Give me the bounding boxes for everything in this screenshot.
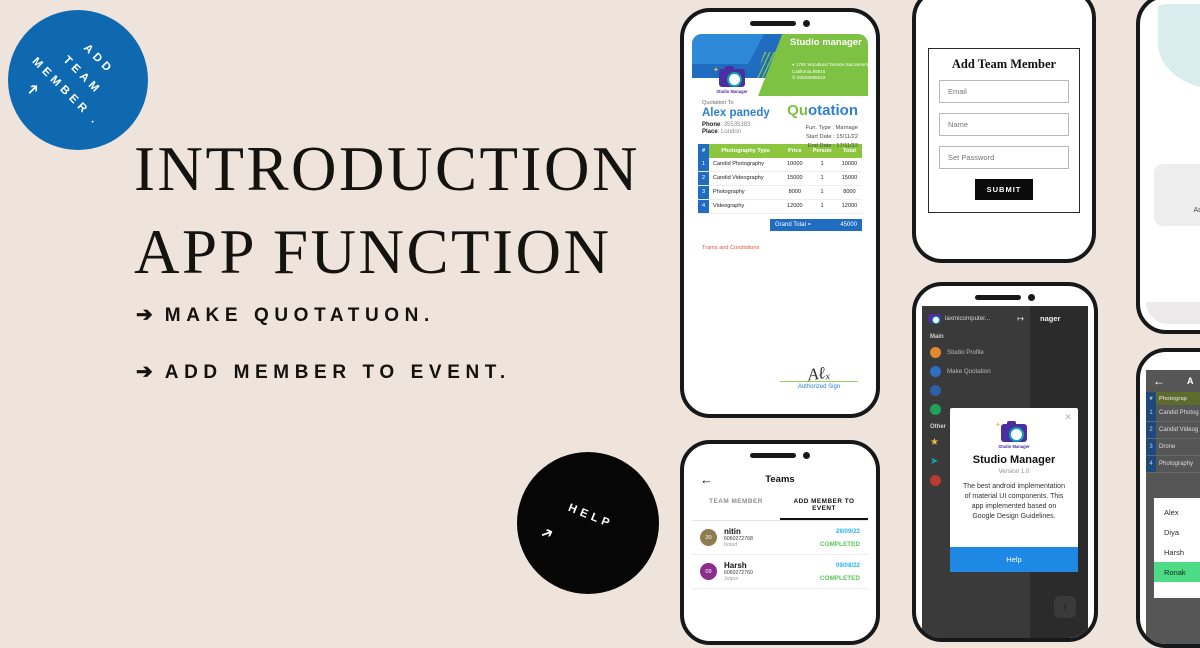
phone-notch xyxy=(750,20,810,27)
dialog-body-text: The best android implementation of mater… xyxy=(950,475,1078,547)
speaker-icon xyxy=(975,295,1021,300)
cell-type: Drone xyxy=(1156,439,1200,456)
cell-index: 2 xyxy=(1146,422,1156,439)
member-name: Harsh xyxy=(724,561,820,570)
member-dropdown-menu: Alex Diya Harsh Ronak xyxy=(1154,498,1200,598)
status-badge: COMPLETED xyxy=(820,541,860,548)
cell-index: 2 xyxy=(698,171,709,185)
add-team-member-card: Add Team Member SUBMIT xyxy=(928,48,1080,213)
speaker-icon xyxy=(750,453,796,458)
drawer-item-label: Studio Profile xyxy=(947,349,984,356)
phone-mockup-add-team-member: Add Team Member SUBMIT xyxy=(912,0,1096,263)
quotation-title-part1: Qu xyxy=(787,102,808,119)
studio-phone: 83535685533 xyxy=(797,75,825,80)
table-row: 3 Drone xyxy=(1146,439,1200,456)
app-logo-icon xyxy=(928,314,941,323)
client-place-label: Place xyxy=(702,129,718,135)
logout-icon[interactable]: ↦ xyxy=(1017,314,1024,323)
appbar-title: nager xyxy=(1040,314,1060,323)
send-icon: ➤ xyxy=(930,456,938,467)
photography-table: # Photograp 1 Candid Photog 2 Candid Vid… xyxy=(1146,392,1200,473)
event-details: Fun. Type : Marriage Start Date : 15/11/… xyxy=(806,124,858,151)
password-field[interactable] xyxy=(939,146,1069,169)
bag-icon xyxy=(930,385,941,396)
cell-type: Candid Videog xyxy=(1156,422,1200,439)
quotation-icon xyxy=(930,366,941,377)
authorized-signature: Aℓₓ Authorized Sign xyxy=(780,364,858,390)
sparkle-icon: ✦ xyxy=(995,421,1001,429)
cell-index: 1 xyxy=(1146,405,1156,422)
client-phone-value: 35535383 xyxy=(724,122,751,128)
page-title: Teams xyxy=(713,474,847,485)
drawer-header: laxmicomputer... ↦ xyxy=(922,306,1030,329)
cell-total: 12000 xyxy=(837,199,862,213)
drawer-item-studio-profile[interactable]: Studio Profile xyxy=(922,343,1030,362)
dropdown-option-alex[interactable]: Alex xyxy=(1154,502,1200,522)
dialog-title: Studio Manager xyxy=(950,454,1078,466)
back-arrow-icon[interactable]: ← xyxy=(1153,374,1165,388)
table-row: 4 Videography 12000 1 12000 xyxy=(698,199,862,213)
phone-notch xyxy=(975,294,1035,301)
studio-address-row: ⌖ 1781 Woodland Terrace,Sacramento, Cali… xyxy=(792,62,868,75)
cell-index: 4 xyxy=(1146,456,1156,473)
teams-tabs: TEAM MEMBER ADD MEMBER TO EVENT xyxy=(692,492,868,521)
teams-fab-button[interactable]: ♁ xyxy=(1054,596,1076,618)
list-appbar: ← A xyxy=(1146,370,1200,392)
tab-team-member[interactable]: TEAM MEMBER xyxy=(692,492,780,520)
dialog-logo-text: Studio Manager xyxy=(994,444,1034,449)
event-end-date: End Date : 17/11/22 xyxy=(806,142,858,151)
terms-and-conditions: Trams and Condistions xyxy=(702,245,868,251)
headline-line-1: INTRODUCTION xyxy=(134,128,640,211)
table-row: 3 Photography 8000 1 8000 xyxy=(698,185,862,199)
cell-price: 12000 xyxy=(782,199,807,213)
cell-total: 8000 xyxy=(837,185,862,199)
headline-line-2: APP FUNCTION xyxy=(134,211,640,294)
add-team-member-badge[interactable]: ➔ ADD TEAM MEMBER . xyxy=(8,10,148,150)
teams-appbar: ← Teams xyxy=(692,466,868,492)
badge-rotated-text: HELP xyxy=(496,431,681,616)
phone-mockup-photography-list: ← A # Photograp 1 Candid Photog 2 Candid… xyxy=(1136,348,1200,648)
star-icon: ★ xyxy=(930,437,939,448)
cell-index: 3 xyxy=(1146,439,1156,456)
dropdown-option-diya[interactable]: Diya xyxy=(1154,522,1200,542)
tab-add-member-to-event[interactable]: ADD MEMBER TO EVENT xyxy=(780,492,868,520)
page-title: A xyxy=(1187,376,1194,386)
member-name: nitin xyxy=(724,527,820,536)
col-index: # xyxy=(1146,392,1156,405)
about-screen: nager laxmicomputer... ↦ Main Studio Pro… xyxy=(922,306,1088,638)
table-row: 1 Candid Photography 10000 1 10000 xyxy=(698,158,862,172)
status-badge: COMPLETED xyxy=(820,575,860,582)
help-icon xyxy=(930,475,941,486)
admin-login-screen: Admin Login ||| xyxy=(1146,4,1200,324)
dialog-logo: ✦ Studio Manager xyxy=(994,424,1034,449)
studio-contact-block: ⌖ 1781 Woodland Terrace,Sacramento, Cali… xyxy=(792,62,868,82)
cell-index: 1 xyxy=(698,158,709,172)
drawer-section-main: Main xyxy=(922,329,1030,343)
bullet-item-2: ➔ADD MEMBER TO EVENT. xyxy=(136,357,596,388)
grand-total-value: 45000 xyxy=(840,222,857,228)
drawer-item-label: Make Quotation xyxy=(947,368,991,375)
location-pin-icon: ⌖ xyxy=(792,62,795,67)
arrow-icon: ➔ xyxy=(136,361,153,383)
studio-name: Studio manager xyxy=(790,38,868,49)
quotation-header: Studio manager ⌖ 1781 Woodland Terrace,S… xyxy=(692,34,868,96)
table-row: 1 Candid Photog xyxy=(1146,405,1200,422)
admin-login-label: Admin Login xyxy=(1194,207,1200,214)
left-content-panel: ➔ ADD TEAM MEMBER . INTRODUCTION APP FUN… xyxy=(0,0,680,628)
system-navbar: ||| xyxy=(1146,302,1200,324)
col-type: Photography Type xyxy=(709,144,782,158)
add-team-member-screen: Add Team Member SUBMIT xyxy=(922,0,1086,253)
table-row: 2 Candid Videog xyxy=(1146,422,1200,439)
bullet-text: MAKE QUOTATUON. xyxy=(165,305,435,326)
account-name: laxmicomputer... xyxy=(945,315,1013,322)
camera-icon xyxy=(1028,294,1035,301)
member-place: botad xyxy=(724,542,820,548)
cell-index: 3 xyxy=(698,185,709,199)
member-date: 28/09/22 xyxy=(820,528,860,535)
teams-screen: ← Teams TEAM MEMBER ADD MEMBER TO EVENT … xyxy=(692,466,868,641)
profile-icon xyxy=(930,347,941,358)
help-label: HELP xyxy=(523,484,659,548)
dropdown-option-harsh[interactable]: Harsh xyxy=(1154,542,1200,562)
member-place: Jetpur xyxy=(724,576,820,582)
member-meta: 28/09/22 COMPLETED xyxy=(820,528,860,548)
event-start-date: Start Date : 15/11/22 xyxy=(806,133,858,142)
phone-mockup-teams: ← Teams TEAM MEMBER ADD MEMBER TO EVENT … xyxy=(680,440,880,645)
dialog-help-button[interactable]: Help xyxy=(950,547,1078,572)
cell-person: 1 xyxy=(807,199,837,213)
cell-person: 1 xyxy=(807,158,837,172)
quotation-table: # Photography Type Price Person Total 1 … xyxy=(698,144,862,214)
quotation-title: Quotation xyxy=(787,102,858,119)
quotation-title-part2: otation xyxy=(808,102,858,119)
quotation-meta: Quotation To Alex panedy Phone: 35535383… xyxy=(692,96,868,141)
phone-mockup-admin-login: Admin Login ||| xyxy=(1136,0,1200,334)
grand-total-label: Grand Total = xyxy=(775,222,811,228)
circle-icon xyxy=(930,404,941,415)
sparkle-icon: ✦ xyxy=(713,66,719,74)
client-phone-label: Phone xyxy=(702,122,720,128)
cell-index: 4 xyxy=(698,199,709,213)
cell-price: 15000 xyxy=(782,171,807,185)
decorative-blob xyxy=(1158,4,1200,89)
drawer-item-make-quotation[interactable]: Make Quotation xyxy=(922,362,1030,381)
cell-person: 1 xyxy=(807,185,837,199)
studio-address: 1781 Woodland Terrace,Sacramento, Califo… xyxy=(792,62,868,74)
drawer-item-3[interactable] xyxy=(922,381,1030,400)
feature-bullet-list: ➔MAKE QUOTATUON. ➔ADD MEMBER TO EVENT. xyxy=(136,300,596,414)
arrow-icon: ➔ xyxy=(136,304,153,326)
studio-phone-row: ✆ 83535685533 xyxy=(792,75,868,82)
list-item[interactable]: 09 Harsh 6060272760 Jetpur 09/08/22 COMP… xyxy=(692,555,868,589)
col-type: Photograp xyxy=(1156,392,1200,405)
cell-type: Photography xyxy=(1156,456,1200,473)
dropdown-option-ronak[interactable]: Ronak xyxy=(1154,562,1200,582)
cell-type: Candid Videography xyxy=(709,171,782,185)
avatar: 09 xyxy=(700,563,717,580)
page-title: INTRODUCTION APP FUNCTION xyxy=(134,128,640,294)
member-date: 09/08/22 xyxy=(820,562,860,569)
cell-total: 15000 xyxy=(837,171,862,185)
studio-logo-text: Studio Manager xyxy=(706,89,758,94)
bullet-item-1: ➔MAKE QUOTATUON. xyxy=(136,300,596,331)
phone-notch xyxy=(750,452,810,459)
avatar: 20 xyxy=(700,529,717,546)
back-arrow-icon[interactable]: ← xyxy=(700,472,713,487)
col-index: # xyxy=(698,144,709,158)
admin-login-card[interactable]: Admin Login xyxy=(1154,164,1200,226)
camera-icon: ✦ xyxy=(719,69,745,87)
phone-mockup-about-dialog: nager laxmicomputer... ↦ Main Studio Pro… xyxy=(912,282,1098,642)
cell-price: 8000 xyxy=(782,185,807,199)
submit-button[interactable]: SUBMIT xyxy=(975,179,1034,200)
speaker-icon xyxy=(750,21,796,26)
table-header-row: # Photograp xyxy=(1146,392,1200,405)
cell-person: 1 xyxy=(807,171,837,185)
cell-type: Candid Photography xyxy=(709,158,782,172)
cell-type: Photography xyxy=(709,185,782,199)
name-field[interactable] xyxy=(939,113,1069,136)
dialog-version: Version 1.0 xyxy=(950,468,1078,475)
col-price: Price xyxy=(782,144,807,158)
camera-icon xyxy=(803,20,810,27)
close-icon[interactable]: ✕ xyxy=(1064,412,1072,423)
bullet-text: ADD MEMBER TO EVENT. xyxy=(165,362,511,383)
list-item[interactable]: 20 nitin 6060272768 botad 28/09/22 COMPL… xyxy=(692,521,868,555)
email-field[interactable] xyxy=(939,80,1069,103)
cell-total: 10000 xyxy=(837,158,862,172)
cell-type: Videography xyxy=(709,199,782,213)
cell-type: Candid Photog xyxy=(1156,405,1200,422)
camera-icon xyxy=(803,452,810,459)
grand-total-bar: Grand Total = 45000 xyxy=(770,219,862,231)
phone-mockup-quotation: Studio manager ⌖ 1781 Woodland Terrace,S… xyxy=(680,8,880,418)
card-title: Add Team Member xyxy=(939,57,1069,72)
quotation-screen: Studio manager ⌖ 1781 Woodland Terrace,S… xyxy=(692,34,868,406)
help-badge[interactable]: ➔ HELP xyxy=(517,452,659,594)
table-row: 2 Candid Videography 15000 1 15000 xyxy=(698,171,862,185)
studio-logo: ✦ Studio Manager xyxy=(706,69,758,94)
phone-icon: ✆ xyxy=(792,75,796,80)
member-meta: 09/08/22 COMPLETED xyxy=(820,562,860,582)
camera-icon: ✦ xyxy=(1001,424,1027,442)
member-info: nitin 6060272768 botad xyxy=(724,527,820,548)
cell-price: 10000 xyxy=(782,158,807,172)
about-dialog: ✕ ✦ Studio Manager Studio Manager Versio… xyxy=(950,408,1078,572)
table-row: 4 Photography xyxy=(1146,456,1200,473)
event-fun-type: Fun. Type : Marriage xyxy=(806,124,858,133)
photography-list-screen: ← A # Photograp 1 Candid Photog 2 Candid… xyxy=(1146,370,1200,644)
member-info: Harsh 6060272760 Jetpur xyxy=(724,561,820,582)
client-place-value: London xyxy=(721,129,741,135)
